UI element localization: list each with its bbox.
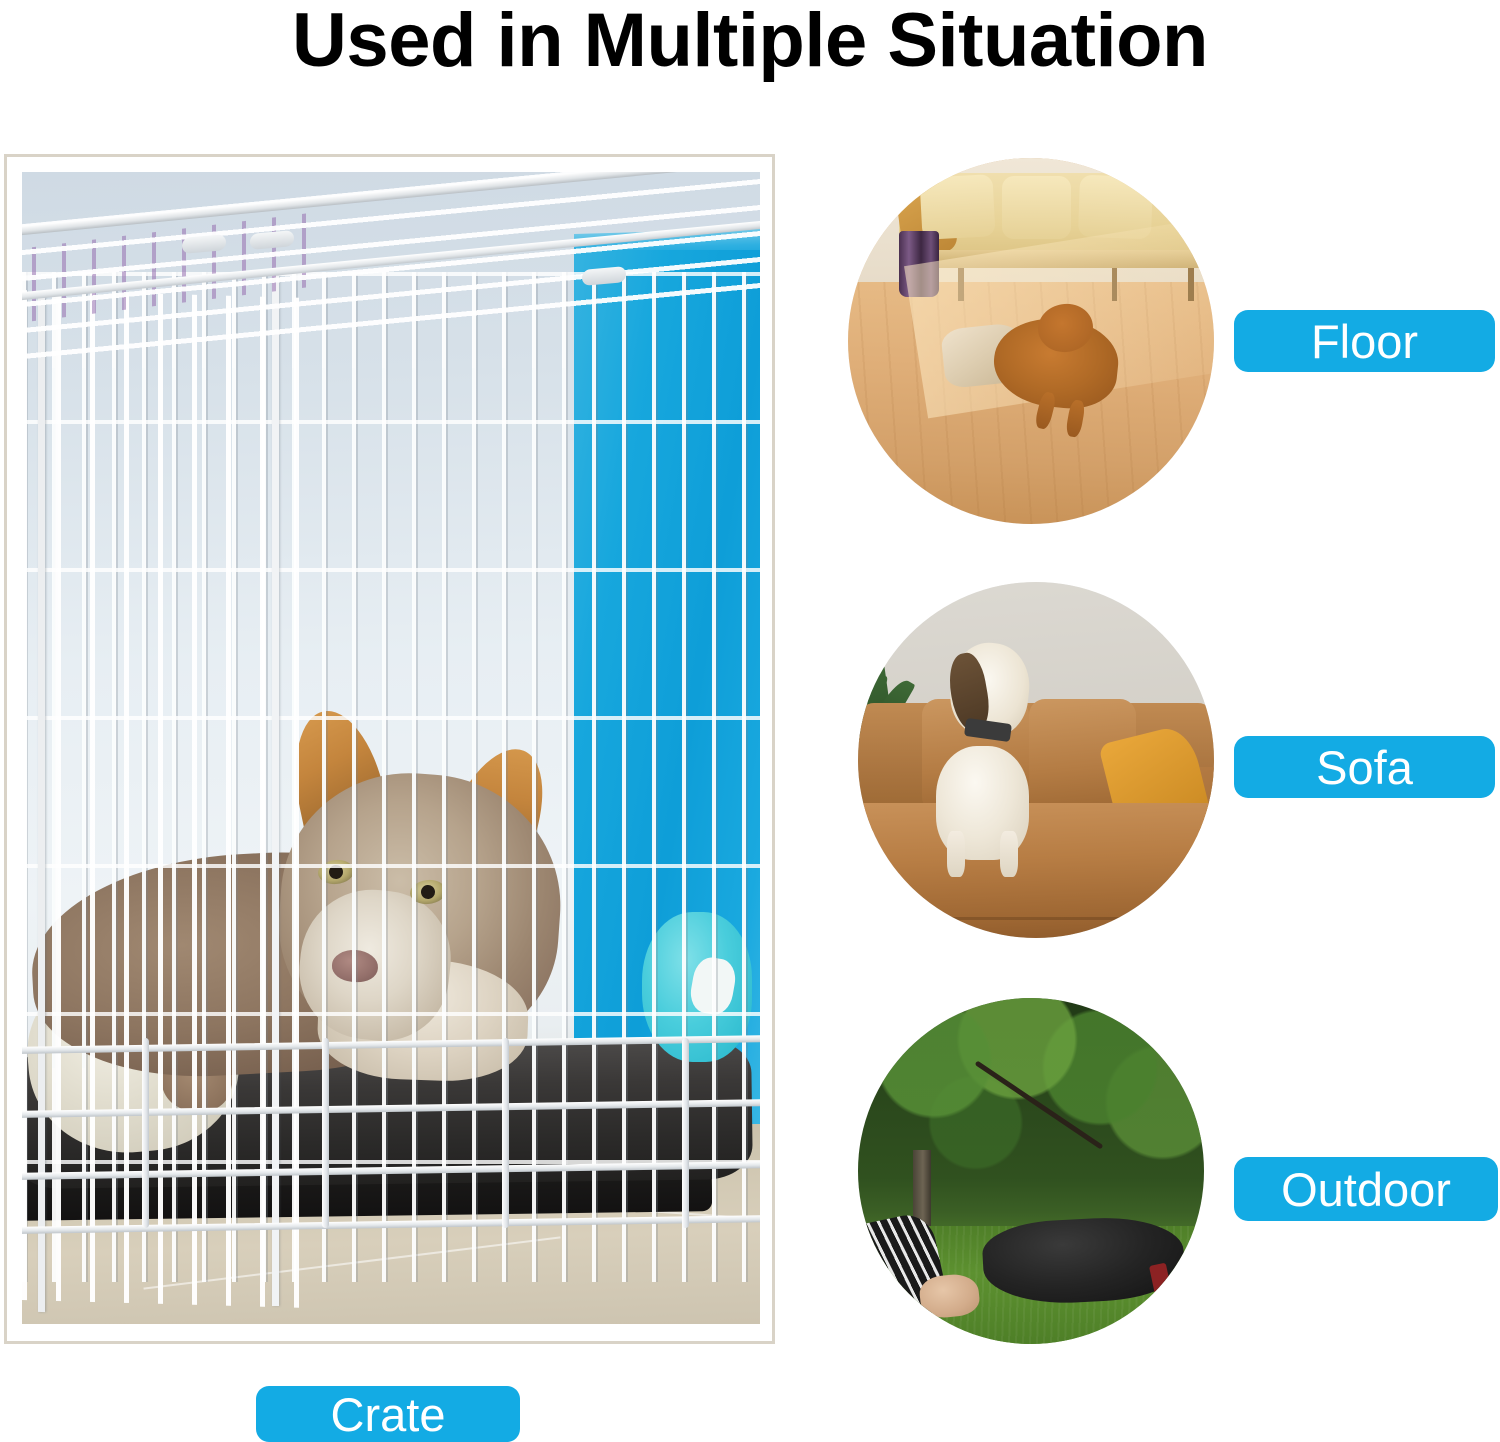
scenario-label-sofa: Sofa (1234, 736, 1495, 798)
scenario-image-floor (848, 158, 1214, 524)
crate-photo-frame (4, 154, 775, 1344)
floor-seam (143, 1236, 560, 1289)
poodle-leg (1000, 831, 1018, 877)
scenario-label-crate: Crate (256, 1386, 520, 1442)
scenario-image-outdoor (858, 998, 1204, 1344)
crate-photo (22, 172, 760, 1324)
page-title: Used in Multiple Situation (0, 0, 1500, 86)
border-collie-dog (32, 744, 672, 1074)
scenario-image-sofa (858, 582, 1214, 938)
sofa-cushion (1002, 176, 1072, 238)
scenario-label-floor: Floor (1234, 310, 1495, 372)
seat-seam (858, 917, 1214, 920)
poodle-leg (947, 831, 965, 877)
scenario-label-outdoor: Outdoor (1234, 1157, 1498, 1221)
leather-sofa-seat (858, 803, 1214, 938)
